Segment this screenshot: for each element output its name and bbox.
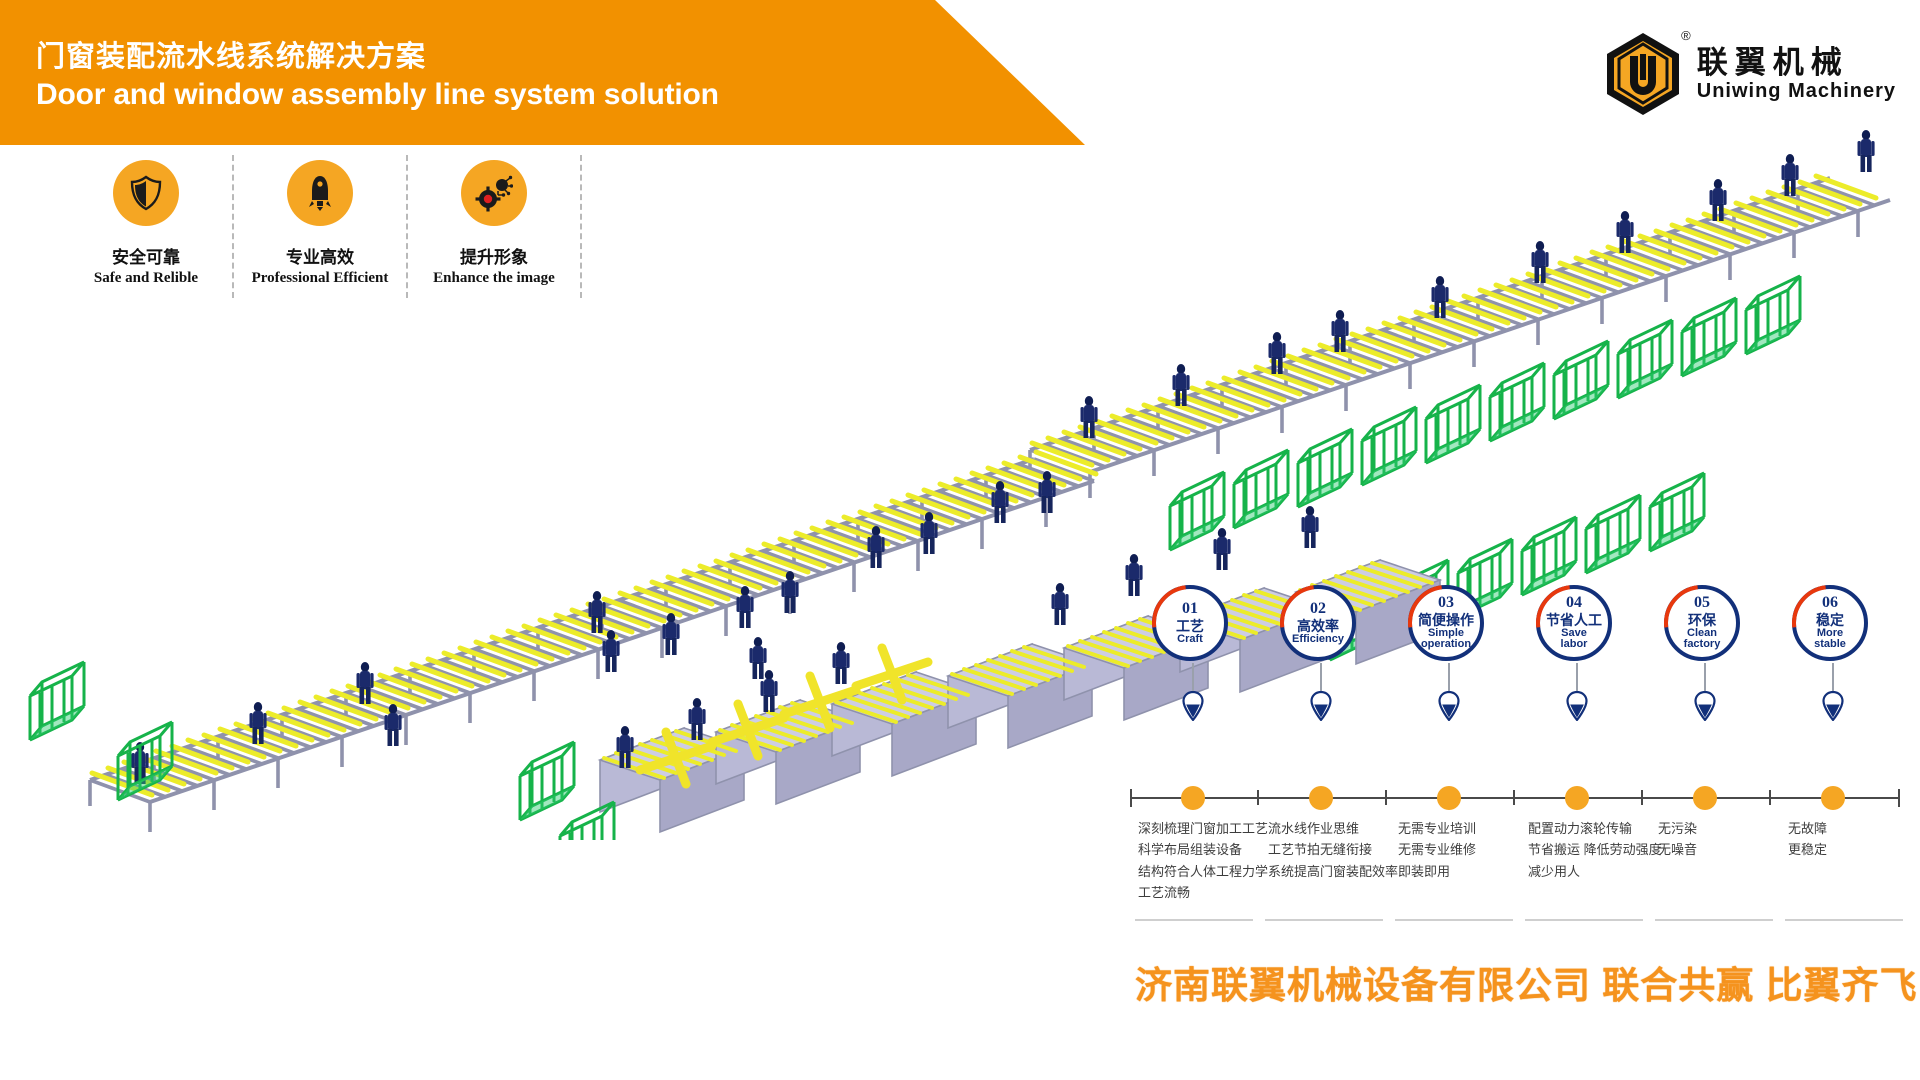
timeline-stem — [1448, 663, 1450, 691]
timeline-dot — [1821, 786, 1845, 810]
timeline-description: 流水线作业思维 工艺节拍无缝衔接 系统提高门窗装配效率 — [1268, 818, 1398, 882]
axis-tick — [1257, 790, 1259, 805]
timeline-underline — [1785, 919, 1903, 921]
timeline-underline — [1525, 919, 1643, 921]
timeline-stem — [1320, 663, 1322, 691]
timeline-stem — [1704, 663, 1706, 691]
timeline-dot — [1181, 786, 1205, 810]
timeline-underline — [1395, 919, 1513, 921]
timeline-description: 无故障 更稳定 — [1788, 818, 1827, 861]
timeline-underline — [1655, 919, 1773, 921]
map-pin-icon — [1438, 691, 1460, 721]
company-logo: ® 联翼机械 Uniwing Machinery — [1599, 28, 1896, 120]
registered-trademark-icon: ® — [1681, 28, 1691, 43]
axis-cap-left — [1130, 789, 1132, 807]
timeline-description: 无需专业培训 无需专业维修 即装即用 — [1398, 818, 1476, 882]
company-slogan: 济南联翼机械设备有限公司 联合共赢 比翼齐飞 — [1135, 955, 1918, 1009]
page-title-en: Door and window assembly line system sol… — [36, 78, 719, 112]
timeline-axis — [1130, 797, 1900, 799]
logo-name-zh: 联翼机械 — [1697, 45, 1896, 81]
axis-tick — [1641, 790, 1643, 805]
page-title-zh: 门窗装配流水线系统解决方案 — [36, 33, 426, 75]
timeline-description: 无污染 无噪音 — [1658, 818, 1697, 861]
map-pin-icon — [1694, 691, 1716, 721]
cart-left-standalone — [30, 662, 172, 800]
timeline-dot — [1693, 786, 1717, 810]
timeline-description: 深刻梳理门窗加工工艺 科学布局组装设备 结构符合人体工程力学 工艺流畅 — [1138, 818, 1268, 904]
timeline-underline — [1135, 919, 1253, 921]
map-pin-icon — [1182, 691, 1204, 721]
uniwing-hexagon-u-logo-icon: ® — [1599, 30, 1687, 118]
timeline-underline — [1265, 919, 1383, 921]
timeline-dot — [1437, 786, 1461, 810]
timeline-stem — [1192, 663, 1194, 691]
map-pin-icon — [1822, 691, 1844, 721]
map-pin-icon — [1310, 691, 1332, 721]
axis-tick — [1769, 790, 1771, 805]
map-pin-icon — [1566, 691, 1588, 721]
axis-tick — [1513, 790, 1515, 805]
timeline-stem — [1832, 663, 1834, 691]
timeline-stem — [1576, 663, 1578, 691]
upper-roller-conveyor-line — [1030, 130, 1890, 660]
timeline-dot — [1565, 786, 1589, 810]
logo-name-en: Uniwing Machinery — [1697, 80, 1896, 103]
benefits-timeline: 01 工艺 Craft 深刻梳理门窗加工工艺 科学布局组装设备 结构符合人体工程… — [1130, 685, 1900, 950]
axis-cap-right — [1898, 789, 1900, 807]
timeline-dot — [1309, 786, 1333, 810]
timeline-description: 配置动力滚轮传输 节省搬运 降低劳动强度 减少用人 — [1528, 818, 1662, 882]
axis-tick — [1385, 790, 1387, 805]
